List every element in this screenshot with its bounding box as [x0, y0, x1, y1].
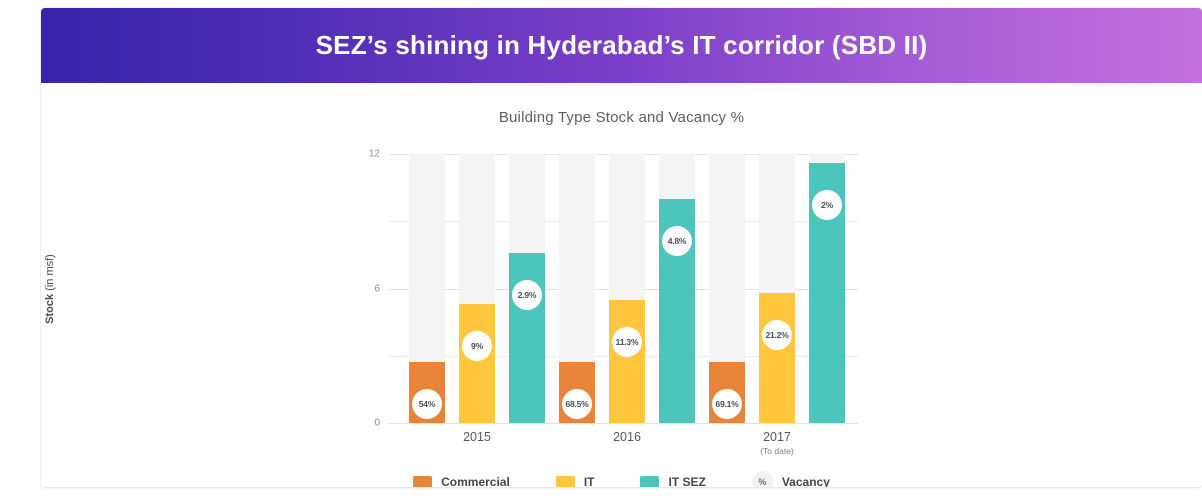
page-root: SEZ’s shining in Hyderabad’s IT corridor… [0, 0, 1202, 496]
vacancy-label-bubble: 9% [462, 331, 492, 361]
y-axis-tick-label: 6 [374, 283, 389, 294]
chart-title: Building Type Stock and Vacancy % [41, 109, 1202, 126]
vacancy-label-bubble: 2.9% [512, 280, 542, 310]
page-title: SEZ’s shining in Hyderabad’s IT corridor… [316, 30, 928, 61]
percent-circle-icon: % [752, 471, 773, 487]
legend-swatch-icon [556, 476, 575, 488]
legend-swatch-icon [640, 476, 659, 488]
vacancy-label-bubble: 2% [812, 190, 842, 220]
x-axis-category-label: 2017(To date) [717, 430, 837, 456]
vacancy-label-bubble: 69.1% [712, 389, 742, 419]
plot-area: 061254%9%2.9%201568.5%11.3%4.8%201669.1%… [389, 154, 858, 423]
dashboard-card: SEZ’s shining in Hyderabad’s IT corridor… [41, 8, 1202, 487]
y-axis-title-unit: (in msf) [44, 254, 56, 294]
bar-it-2016[interactable] [609, 300, 645, 423]
legend-item-label: IT [584, 475, 595, 488]
y-axis-title: Stock (in msf) [44, 254, 56, 324]
x-axis-category-year: 2016 [613, 430, 641, 444]
legend-item-label: IT SEZ [668, 475, 705, 488]
legend-item-it[interactable]: IT [556, 475, 595, 488]
vacancy-label-bubble: 11.3% [612, 327, 642, 357]
header-banner: SEZ’s shining in Hyderabad’s IT corridor… [41, 8, 1202, 83]
bar-it-2015[interactable] [459, 304, 495, 423]
x-axis-category-label: 2016 [567, 430, 687, 444]
gridline [389, 423, 858, 424]
x-axis-category-year: 2015 [463, 430, 491, 444]
chart-container: Building Type Stock and Vacancy % Stock … [41, 83, 1202, 487]
legend-swatch-icon [413, 476, 432, 488]
legend-item-label: Vacancy [782, 475, 830, 488]
chart-legend: CommercialITIT SEZ%Vacancy [41, 471, 1202, 487]
legend-item-label: Commercial [441, 475, 510, 488]
y-axis-title-main: Stock [44, 294, 56, 324]
legend-item-commercial[interactable]: Commercial [413, 475, 510, 488]
vacancy-label-bubble: 54% [412, 389, 442, 419]
x-axis-category-year: 2017 [763, 430, 791, 444]
legend-item-it-sez[interactable]: IT SEZ [640, 475, 705, 488]
y-axis-tick-label: 0 [374, 418, 389, 429]
bar-it-2017[interactable] [759, 293, 795, 423]
vacancy-label-bubble: 68.5% [562, 389, 592, 419]
vacancy-label-bubble: 4.8% [662, 226, 692, 256]
legend-item-vacancy[interactable]: %Vacancy [752, 471, 830, 487]
vacancy-label-bubble: 21.2% [762, 320, 792, 350]
y-axis-tick-label: 12 [369, 149, 389, 160]
bar-it-sez-2015[interactable] [509, 253, 545, 423]
x-axis-category-sublabel: (To date) [717, 446, 837, 456]
x-axis-category-label: 2015 [417, 430, 537, 444]
